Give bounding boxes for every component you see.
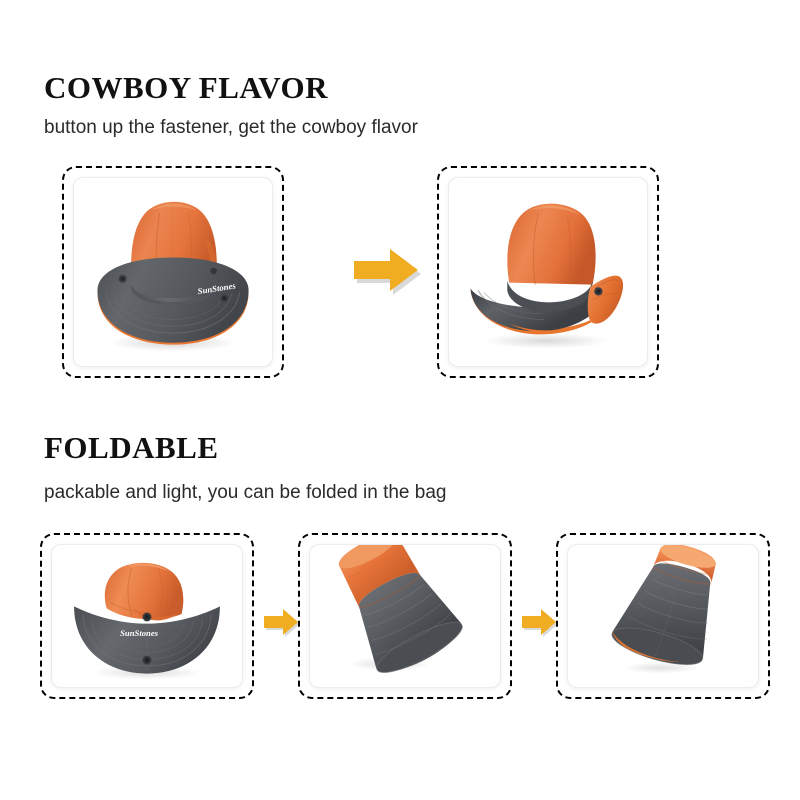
arrow-step-3 xyxy=(519,606,559,638)
hat-illustration-flat: SunStones xyxy=(52,545,242,687)
brand-script-mark-flat: SunStones xyxy=(120,628,159,638)
panel-inner-hat-brim-snapped xyxy=(448,177,648,367)
section-subtitle-cowboy-flavor: button up the fastener, get the cowboy f… xyxy=(44,118,418,137)
hat-illustration-rolled-full xyxy=(568,545,758,687)
section-heading-foldable: FOLDABLE xyxy=(44,432,219,463)
panel-hat-rolled-half[interactable] xyxy=(298,533,512,699)
arrow-step-2 xyxy=(261,606,301,638)
section-subtitle-foldable: packable and light, you can be folded in… xyxy=(44,483,446,502)
hat-illustration-rolled-half xyxy=(310,545,500,687)
panel-hat-brim-down[interactable]: SunStones xyxy=(62,166,284,378)
arrow-step-1 xyxy=(348,243,424,299)
hat-illustration-brim-snapped xyxy=(449,178,647,366)
panel-inner-hat-flat: SunStones xyxy=(51,544,243,688)
panel-hat-flat[interactable]: SunStones xyxy=(40,533,254,699)
panel-hat-rolled-full[interactable] xyxy=(556,533,770,699)
panel-hat-brim-snapped[interactable] xyxy=(437,166,659,378)
panel-inner-hat-rolled-half xyxy=(309,544,501,688)
panel-inner-hat-brim-down: SunStones xyxy=(73,177,273,367)
infographic-page: COWBOY FLAVOR button up the fastener, ge… xyxy=(0,0,800,800)
hat-illustration-brim-down: SunStones xyxy=(74,178,272,366)
panel-inner-hat-rolled-full xyxy=(567,544,759,688)
section-heading-cowboy-flavor: COWBOY FLAVOR xyxy=(44,72,328,103)
